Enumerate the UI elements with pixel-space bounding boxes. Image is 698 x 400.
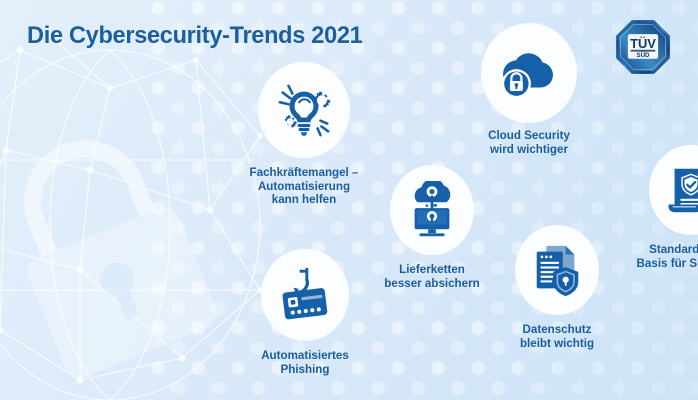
trend-label-line: Phishing [261, 363, 349, 377]
tuv-logo-line1: TÜV [630, 36, 656, 51]
trend-label-line: Lieferketten [384, 263, 479, 277]
padlock-watermark-icon [0, 120, 220, 380]
trend-label: Fachkräftemangel – Automatisierung kann … [250, 166, 359, 207]
trend-label-line: bleibt wichtig [520, 337, 594, 351]
cloud-key-monitor-icon [404, 181, 460, 239]
trend-icon-bubble [258, 62, 350, 158]
trend-label-line: Fachkräftemangel – [250, 166, 359, 180]
trend-label: Datenschutz bleibt wichtig [520, 323, 594, 350]
fishing-hook-card-icon [275, 266, 335, 324]
trend-icon-bubble [515, 225, 599, 315]
trend-label-line: Automatisiertes [261, 349, 349, 363]
trend-label-line: Cloud Security [488, 129, 570, 143]
trend-label-line: Automatisierung [250, 180, 359, 194]
trend-icon-bubble [649, 145, 698, 235]
trend-label-line: Standards sind [637, 243, 698, 257]
trend-icon-bubble [481, 23, 577, 123]
trend-label-line: Datenschutz [520, 323, 594, 337]
trend-label-line: wird wichtiger [488, 143, 570, 157]
tuv-sud-logo: TÜV SÜD [615, 19, 671, 75]
trend-icon-bubble [261, 249, 349, 341]
trend-label-line: besser absichern [384, 277, 479, 291]
network-mesh-graphic [0, 40, 290, 400]
cloud-lock-icon [498, 44, 560, 102]
trend-label-line: kann helfen [250, 193, 359, 207]
trend-label: Automatisiertes Phishing [261, 349, 349, 376]
trend-label: Cloud Security wird wichtiger [488, 129, 570, 156]
page-title: Die Cybersecurity-Trends 2021 [27, 22, 362, 50]
tuv-logo-line2: SÜD [637, 52, 651, 59]
certificate-scroll-shield-icon [663, 162, 698, 218]
documents-shield-icon [529, 242, 585, 298]
trend-label: Lieferketten besser absichern [384, 263, 479, 290]
lightbulb-gears-icon [273, 79, 335, 141]
trend-icon-bubble [390, 165, 474, 255]
infographic-canvas: Die Cybersecurity-Trends 2021 [0, 0, 698, 400]
trend-label-line: Basis für Sicherheit [637, 257, 698, 271]
trend-label: Standards sind Basis für Sicherheit [637, 243, 698, 270]
